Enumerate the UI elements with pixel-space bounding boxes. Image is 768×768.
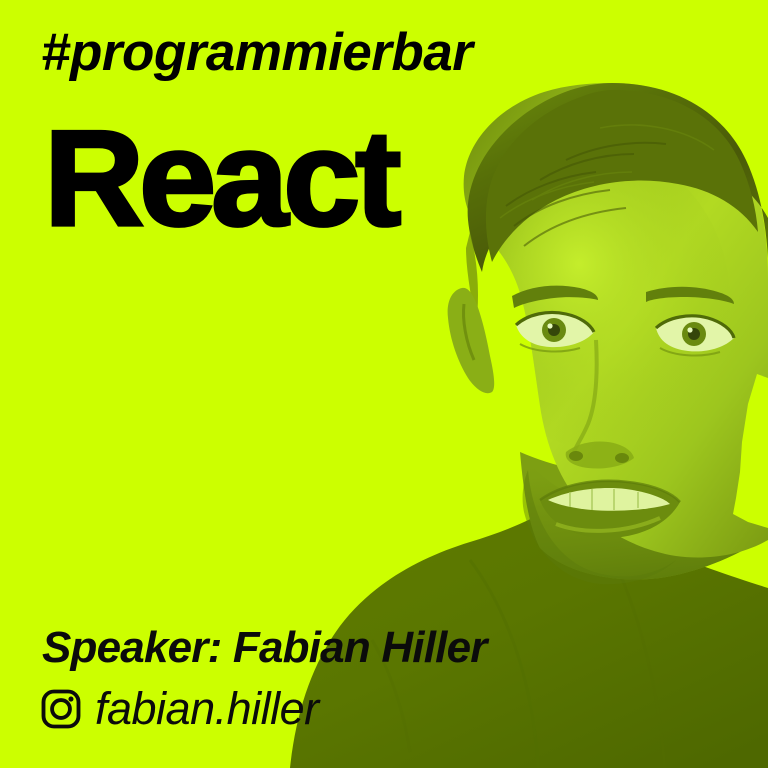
speaker-credit: Speaker: Fabian Hiller — [42, 626, 487, 670]
instagram-handle-text: fabian.hiller — [95, 686, 319, 731]
instagram-icon — [40, 688, 82, 730]
portrait-hair — [466, 83, 768, 326]
portrait-eyebrows — [512, 286, 734, 308]
portrait-background-notch — [733, 374, 768, 528]
portrait-eyes — [516, 312, 734, 355]
portrait-nose — [566, 340, 634, 469]
instagram-handle-row: fabian.hiller — [40, 686, 319, 731]
portrait-mouth — [540, 481, 680, 538]
portrait-head — [440, 70, 768, 580]
portrait-stubble — [523, 470, 676, 584]
brand-hashtag: #programmierbar — [41, 26, 472, 79]
podcast-episode-cover: #programmierbar React Speaker: Fabian Hi… — [0, 0, 768, 768]
portrait-ear — [448, 288, 495, 393]
portrait-neck — [520, 438, 768, 580]
episode-title: React — [44, 110, 396, 246]
